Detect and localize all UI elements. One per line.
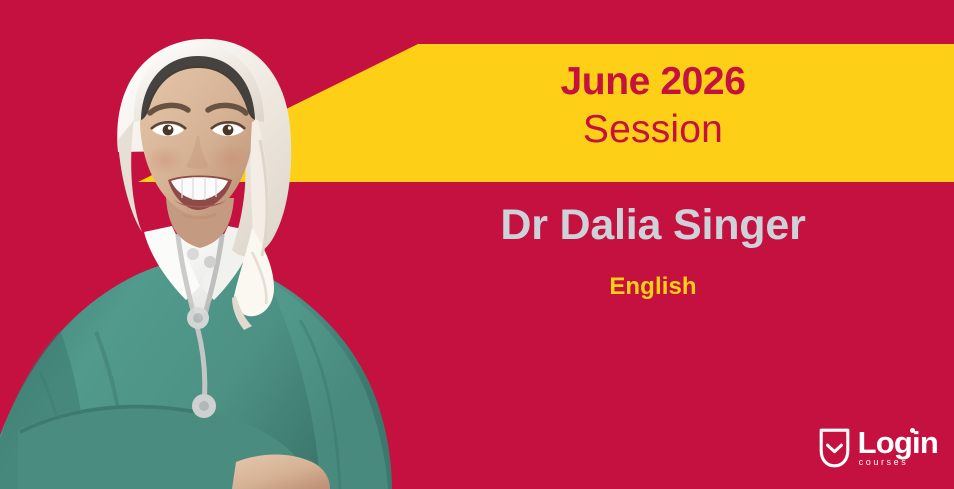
shield-chevron-icon <box>818 427 851 469</box>
speaker-name: Dr Dalia Singer <box>353 204 953 247</box>
logo-i-dot <box>910 428 915 433</box>
portrait-body <box>0 198 392 489</box>
logo-name: Login <box>858 429 938 458</box>
logo-name-text: Login <box>858 425 938 460</box>
promo-banner: June 2026 Session Dr Dalia Singer Englis… <box>0 0 954 489</box>
course-language: English <box>353 275 953 299</box>
session-word: Session <box>353 110 953 149</box>
shield-outline <box>821 430 848 466</box>
login-courses-logo[interactable]: Login courses <box>818 427 938 469</box>
speaker-portrait <box>0 0 400 489</box>
logo-wordmark: Login courses <box>858 429 938 468</box>
chevron-down-icon <box>827 445 841 451</box>
session-date: June 2026 <box>353 62 953 101</box>
